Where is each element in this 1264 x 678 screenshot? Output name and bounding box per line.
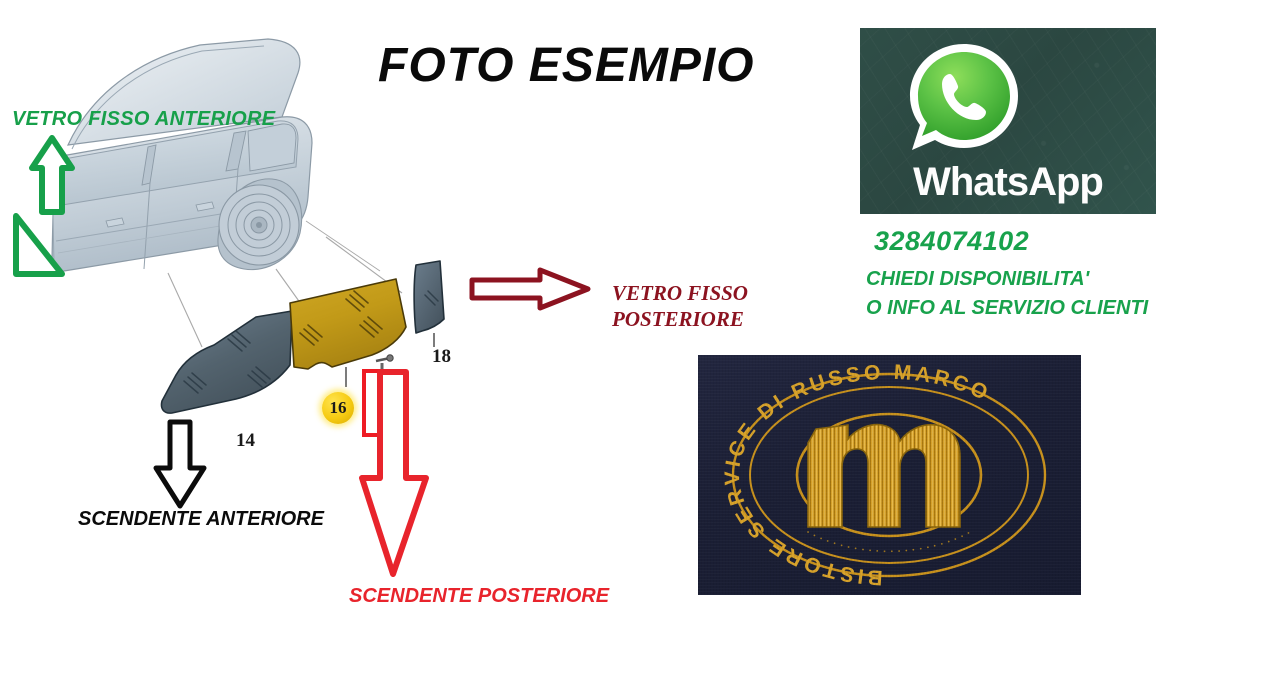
company-monogram [808, 425, 960, 527]
part-number-14: 14 [236, 430, 255, 452]
label-vetro-fisso-anteriore: VETRO FISSO ANTERIORE [12, 108, 275, 131]
glass-part-14 [161, 311, 292, 413]
company-logo: MRICAMBISTORE SERVICE DI RUSSO MARCO • •… [698, 355, 1081, 595]
glass-part-18 [414, 261, 444, 347]
phone-number[interactable]: 3284074102 [874, 226, 1029, 257]
whatsapp-wordmark: WhatsApp [860, 160, 1156, 205]
contact-line-1: CHIEDI DISPONIBILITA' [866, 268, 1089, 291]
poster-canvas: 14 18 16 17 FOTO ESEMPIO VETRO FISSO ANT… [0, 0, 1264, 678]
label-vetro-fisso-posteriore-line1: VETRO FISSO [612, 280, 748, 306]
right-arrow-darkred [468, 266, 594, 312]
down-arrow-red [358, 368, 442, 580]
label-scendente-posteriore: SCENDENTE POSTERIORE [349, 585, 609, 608]
label-vetro-fisso-posteriore-line2: POSTERIORE [612, 306, 748, 332]
whatsapp-phone-icon [906, 40, 1022, 167]
page-title: FOTO ESEMPIO [378, 38, 755, 93]
label-scendente-anteriore: SCENDENTE ANTERIORE [78, 508, 324, 531]
up-arrow-green [6, 132, 102, 282]
label-vetro-fisso-posteriore: VETRO FISSO POSTERIORE [612, 280, 748, 332]
contact-line-2: O INFO AL SERVIZIO CLIENTI [866, 297, 1148, 320]
part-number-18: 18 [432, 346, 451, 368]
whatsapp-banner[interactable]: WhatsApp [860, 28, 1156, 214]
down-arrow-black [152, 416, 222, 512]
part-number-badge-16: 16 [322, 392, 354, 424]
